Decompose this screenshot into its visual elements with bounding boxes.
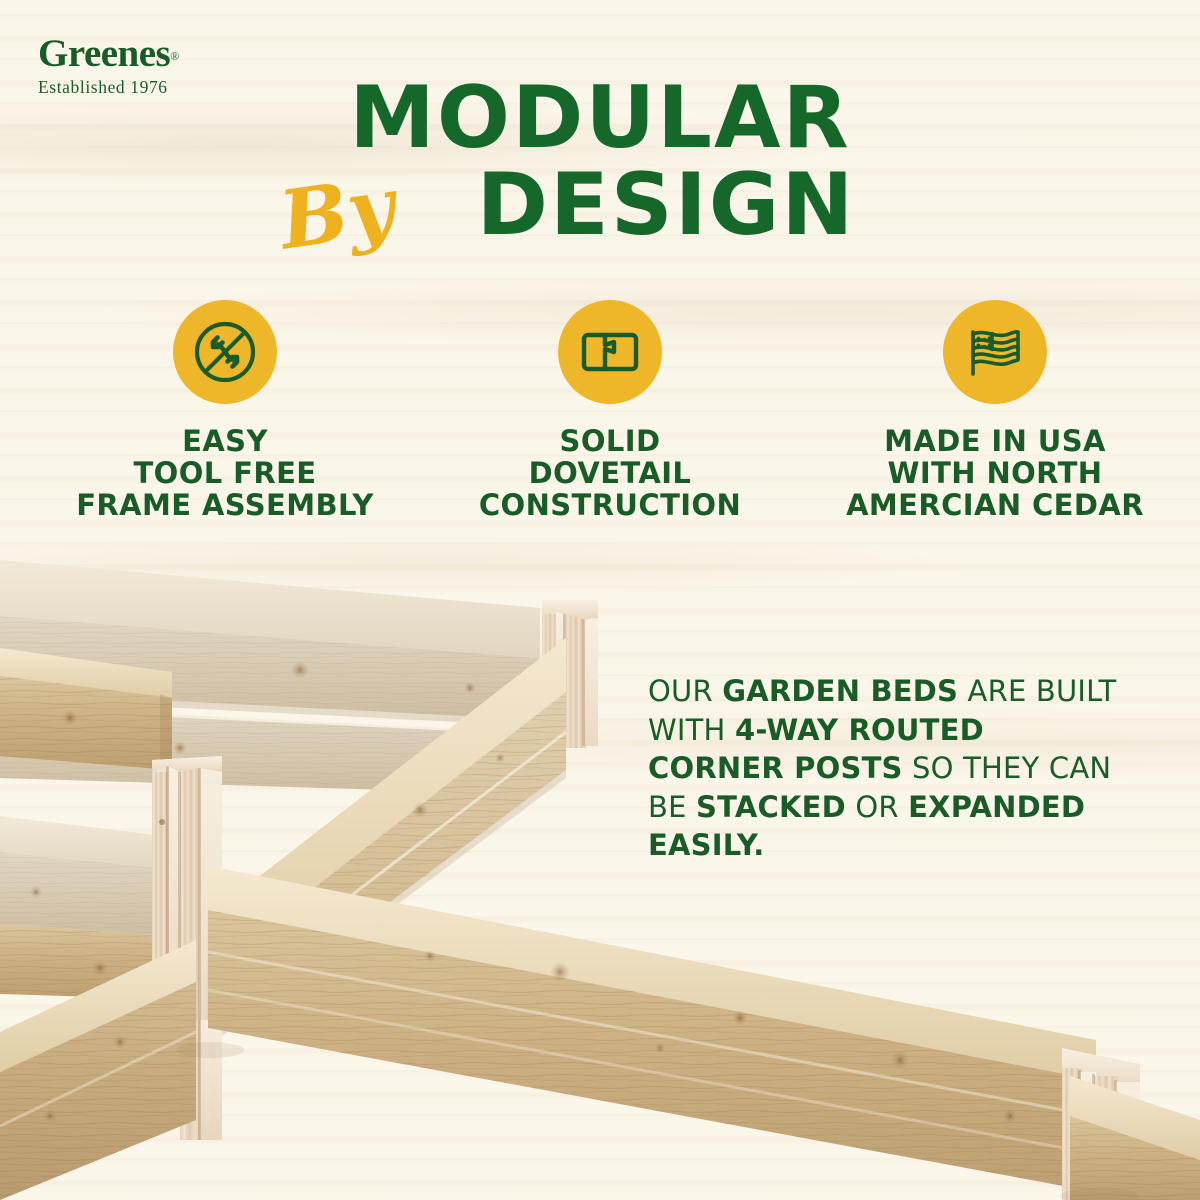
brand-name: Greenes®: [38, 34, 179, 73]
feature-icon-badge: [943, 300, 1047, 404]
feature-label: EASY TOOL FREE FRAME ASSEMBLY: [60, 426, 390, 522]
body-copy-segment: OUR: [648, 674, 722, 708]
headline-line-2: DESIGN: [0, 162, 1200, 248]
registered-trademark-symbol: ®: [170, 50, 179, 62]
feature-label: SOLID DOVETAIL CONSTRUCTION: [445, 426, 775, 522]
no-tools-icon: [189, 316, 261, 388]
body-copy: OUR GARDEN BEDS ARE BUILT WITH 4-WAY ROU…: [648, 672, 1128, 865]
headline-line-2-group: DESIGN By: [0, 162, 1200, 262]
promo-graphic: Greenes® Established 1976 MODULAR DESIGN…: [0, 0, 1200, 1200]
body-copy-segment: OR: [846, 790, 908, 824]
headline-script-word: By: [274, 158, 400, 267]
feature-item-tool-free: EASY TOOL FREE FRAME ASSEMBLY: [60, 300, 390, 522]
board-front-near-wall: [208, 866, 1096, 1192]
feature-row: EASY TOOL FREE FRAME ASSEMBLY SOLID DOVE…: [60, 300, 1160, 522]
dovetail-joint-icon: [574, 316, 646, 388]
body-copy-segment: STACKED: [696, 790, 846, 824]
feature-item-dovetail: SOLID DOVETAIL CONSTRUCTION: [445, 300, 775, 522]
body-copy-segment: GARDEN BEDS: [722, 674, 958, 708]
headline-line-1: MODULAR: [0, 78, 1200, 160]
headline: MODULAR DESIGN By: [0, 78, 1200, 262]
feature-label: MADE IN USA WITH NORTH AMERCIAN CEDAR: [830, 426, 1160, 522]
brand-name-text: Greenes: [38, 34, 170, 73]
usa-flag-icon: [959, 316, 1031, 388]
feature-icon-badge: [558, 300, 662, 404]
feature-icon-badge: [173, 300, 277, 404]
feature-item-made-in-usa: MADE IN USA WITH NORTH AMERCIAN CEDAR: [830, 300, 1160, 522]
